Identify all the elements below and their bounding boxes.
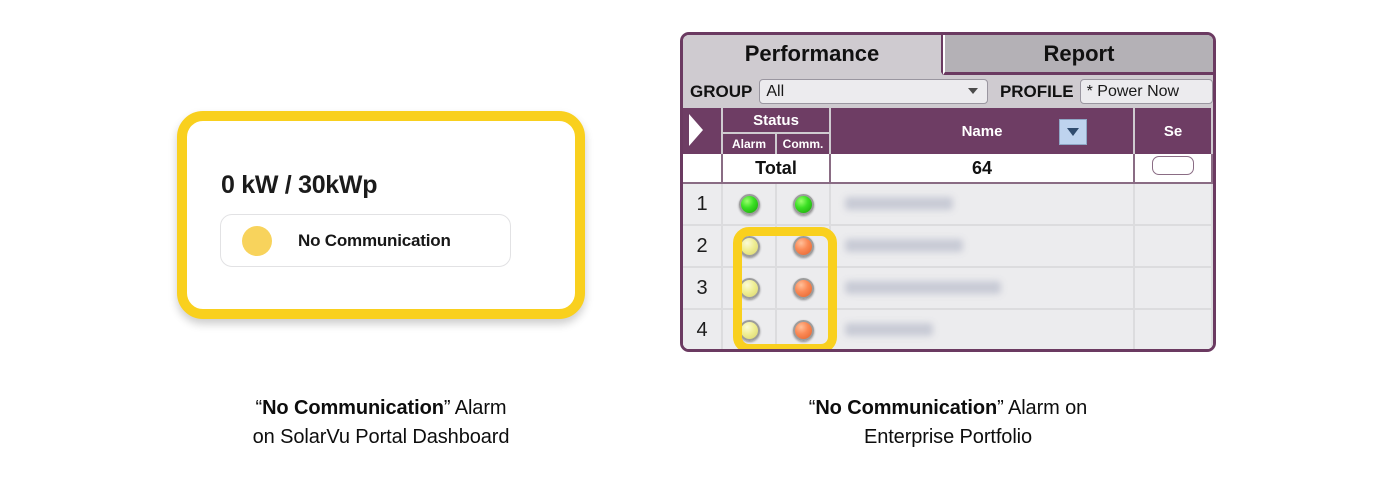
tab-report[interactable]: Report (943, 35, 1213, 75)
row-number-header (683, 108, 722, 154)
caption-left-quoted: No Communication (262, 397, 444, 419)
name-sort-button[interactable] (1059, 119, 1087, 145)
name-header-label: Name (962, 123, 1003, 140)
table-row[interactable]: 4 (683, 309, 1212, 351)
filter-bar: GROUP All PROFILE * Power Now (683, 75, 1213, 108)
tab-strip: Performance Report (683, 35, 1213, 75)
row-name-cell[interactable] (830, 183, 1134, 225)
row-number: 3 (683, 267, 722, 309)
no-communication-status-pill[interactable]: No Communication (220, 214, 511, 267)
alarm-led-icon (739, 278, 760, 299)
comm-led-icon (793, 278, 814, 299)
alarm-status[interactable] (723, 226, 775, 266)
comm-led-icon (793, 194, 814, 215)
caption-left-line2: on SolarVu Portal Dashboard (253, 426, 510, 448)
status-alarm-subheader: Alarm (723, 134, 777, 154)
table-row[interactable]: 3 (683, 267, 1212, 309)
site-name-redacted (845, 197, 953, 210)
portfolio-table: Status Alarm Comm. Name (683, 108, 1213, 352)
profile-label: PROFILE (1000, 82, 1074, 102)
site-name-redacted (845, 281, 1001, 294)
comm-status[interactable] (775, 310, 829, 350)
caption-right-line2: Enterprise Portfolio (864, 426, 1032, 448)
caption-right: “No Communication” Alarm on Enterprise P… (700, 394, 1196, 452)
site-name-redacted (845, 323, 933, 336)
alarm-led-icon (739, 320, 760, 341)
row-status-cell (722, 183, 830, 225)
status-dot-icon (242, 226, 272, 256)
status-pill-label: No Communication (298, 231, 451, 251)
table-total-row: Total64 (683, 154, 1212, 183)
comm-status[interactable] (775, 184, 829, 224)
caption-right-rest: Alarm on (1004, 397, 1088, 419)
row-status-cell (722, 309, 830, 351)
row-select-cell[interactable] (1134, 183, 1212, 225)
select-header-label: Se (1164, 123, 1182, 140)
row-select-cell[interactable] (1134, 267, 1212, 309)
chevron-down-icon (1067, 128, 1079, 136)
row-number: 2 (683, 225, 722, 267)
comm-status[interactable] (775, 226, 829, 266)
group-label: GROUP (690, 82, 752, 102)
caption-left: “No Communication” Alarm on SolarVu Port… (141, 394, 621, 452)
select-header: Se (1134, 108, 1212, 154)
portfolio-window: Performance Report GROUP All PROFILE * P… (680, 32, 1216, 352)
row-status-cell (722, 267, 830, 309)
alarm-led-icon (739, 194, 760, 215)
site-name-redacted (845, 239, 963, 252)
profile-select[interactable]: * Power Now (1080, 79, 1213, 104)
caption-left-line1: “No Communication” Alarm (256, 397, 507, 419)
row-number: 4 (683, 309, 722, 351)
group-select-value: All (760, 83, 784, 101)
total-row-label: Total (722, 154, 830, 183)
caption-left-rest: Alarm (450, 397, 506, 419)
status-header: Status Alarm Comm. (722, 108, 830, 154)
table-row[interactable]: 2 (683, 225, 1212, 267)
caption-right-quoted: No Communication (815, 397, 997, 419)
total-row-spacer (683, 154, 722, 183)
solarvu-dashboard-panel: 0 kW / 30kWp No Communication (177, 111, 585, 319)
status-comm-subheader: Comm. (777, 134, 829, 154)
alarm-status[interactable] (723, 184, 775, 224)
sort-flag-icon (689, 114, 703, 146)
row-number: 1 (683, 183, 722, 225)
chevron-down-icon (968, 88, 978, 94)
row-select-cell[interactable] (1134, 225, 1212, 267)
comm-led-icon (793, 320, 814, 341)
name-header[interactable]: Name (830, 108, 1134, 154)
table-body: Total641234 (683, 154, 1212, 351)
row-select-cell[interactable] (1134, 309, 1212, 351)
alarm-led-icon (739, 236, 760, 257)
comm-led-icon (793, 236, 814, 257)
dashboard-card: 0 kW / 30kWp No Communication (177, 111, 585, 319)
row-status-cell (722, 225, 830, 267)
status-header-label: Status (723, 108, 829, 134)
table-row[interactable]: 1 (683, 183, 1212, 225)
enterprise-portfolio-panel: Performance Report GROUP All PROFILE * P… (680, 32, 1216, 352)
profile-select-value: * Power Now (1081, 83, 1179, 101)
row-name-cell[interactable] (830, 267, 1134, 309)
group-select[interactable]: All (759, 79, 988, 104)
caption-right-line1: “No Communication” Alarm on (809, 397, 1087, 419)
row-name-cell[interactable] (830, 225, 1134, 267)
row-name-cell[interactable] (830, 309, 1134, 351)
total-select-box[interactable] (1152, 156, 1194, 175)
table-header-row: Status Alarm Comm. Name (683, 108, 1212, 154)
alarm-status[interactable] (723, 310, 775, 350)
power-output-text: 0 kW / 30kWp (221, 171, 377, 200)
total-row-select[interactable] (1134, 154, 1212, 183)
comm-status[interactable] (775, 268, 829, 308)
alarm-status[interactable] (723, 268, 775, 308)
tab-performance[interactable]: Performance (683, 35, 943, 75)
total-row-count: 64 (830, 154, 1134, 183)
